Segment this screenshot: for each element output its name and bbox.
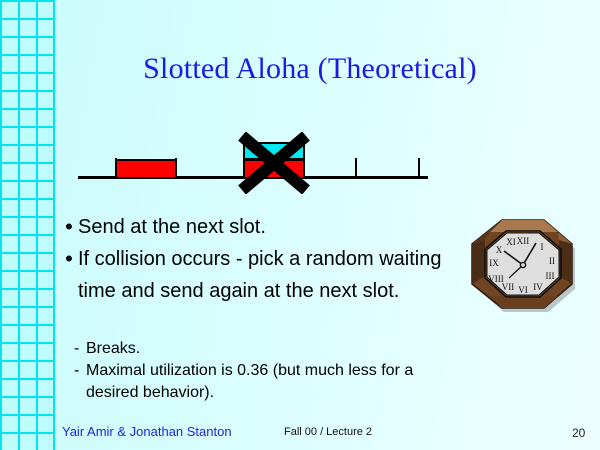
decorative-grid-strip [0, 0, 55, 450]
sub-note-2-continued: desired behavior). [74, 382, 574, 404]
bullet-marker: • [60, 246, 78, 272]
bullet-text: If collision occurs - pick a random wait… [78, 246, 441, 272]
sub-note-text: desired behavior). [86, 382, 214, 404]
bullet-marker: • [60, 214, 78, 240]
footer-authors: Yair Amir & Jonathan Stanton [62, 424, 232, 439]
bullet-list: • Send at the next slot. • If collision … [60, 214, 580, 310]
bullet-text: time and send again at the next slot. [78, 278, 399, 304]
transmission-slot-red [115, 159, 177, 177]
sub-note-text: Breaks. [86, 338, 140, 360]
bullet-item-1: • Send at the next slot. [60, 214, 580, 240]
collision-x-icon [230, 132, 318, 194]
sub-note-1: - Breaks. [74, 338, 574, 360]
bullet-item-2: • If collision occurs - pick a random wa… [60, 246, 580, 272]
slide-canvas: Slotted Aloha (Theoretical) [0, 0, 600, 450]
slotted-aloha-diagram: XII I II III IV VI VII VIII IX X XI [0, 120, 600, 200]
sub-note-2: - Maximal utilization is 0.36 (but much … [74, 360, 574, 382]
slot-tick-6 [418, 158, 420, 177]
slot-tick-5 [355, 158, 357, 177]
sub-note-marker: - [74, 338, 86, 360]
bullet-item-2-continued: time and send again at the next slot. [60, 278, 580, 304]
footer-course: Fall 00 / Lecture 2 [284, 426, 372, 438]
footer-page-number: 20 [572, 426, 585, 440]
page-title: Slotted Aloha (Theoretical) [55, 52, 565, 86]
sub-note-text: Maximal utilization is 0.36 (but much le… [86, 360, 413, 382]
bullet-text: Send at the next slot. [78, 214, 266, 240]
sub-note-list: - Breaks. - Maximal utilization is 0.36 … [74, 338, 574, 404]
sub-note-marker: - [74, 360, 86, 382]
